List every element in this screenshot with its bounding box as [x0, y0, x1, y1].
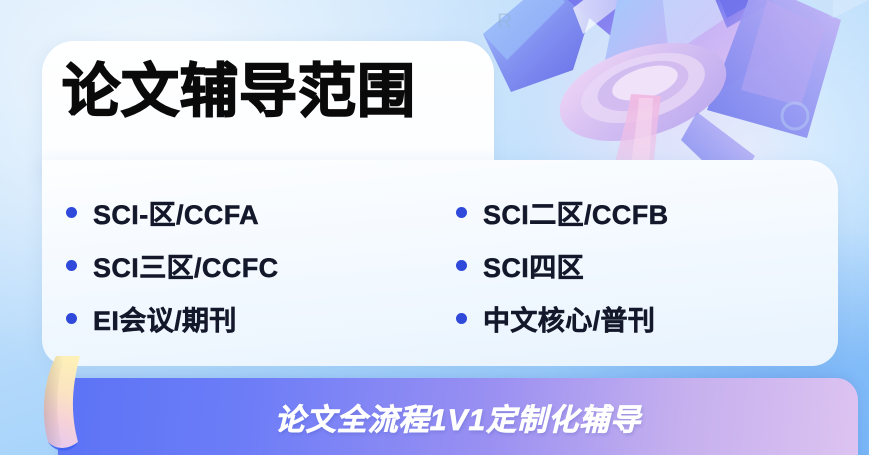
- bullet-dot-icon: [456, 313, 467, 324]
- list-item-label: SCI四区: [483, 246, 584, 285]
- watermark-letter-r: R: [497, 10, 513, 34]
- list-item: SCI三区/CCFC: [66, 246, 456, 285]
- bullet-dot-icon: [456, 260, 467, 271]
- bullet-dot-icon: [456, 207, 467, 218]
- list-item: 中文核心/普刊: [456, 299, 766, 338]
- banner-slogan: 论文全流程1V1定制化辅导: [58, 395, 858, 439]
- list-item: SCI-区/CCFA: [66, 193, 456, 232]
- page-title: 论文辅导范围: [62, 56, 416, 128]
- list-item-label: SCI二区/CCFB: [483, 193, 669, 232]
- scope-list: SCI-区/CCFA SCI二区/CCFB SCI三区/CCFC SCI四区 E…: [66, 186, 766, 345]
- list-item: EI会议/期刊: [66, 299, 456, 338]
- list-item-label: SCI-区/CCFA: [93, 193, 259, 232]
- list-item: SCI四区: [456, 246, 766, 285]
- bullet-dot-icon: [66, 313, 77, 324]
- promo-poster: R 论文辅导范围 SCI-区/CCFA SCI二区/CCFB SCI三区/CCF…: [0, 0, 869, 455]
- bottom-banner: 论文全流程1V1定制化辅导: [58, 378, 858, 455]
- bullet-dot-icon: [66, 260, 77, 271]
- list-item-label: 中文核心/普刊: [483, 299, 655, 338]
- list-item-label: EI会议/期刊: [93, 299, 237, 338]
- bullet-dot-icon: [66, 207, 77, 218]
- list-item: SCI二区/CCFB: [456, 193, 766, 232]
- list-item-label: SCI三区/CCFC: [93, 246, 279, 285]
